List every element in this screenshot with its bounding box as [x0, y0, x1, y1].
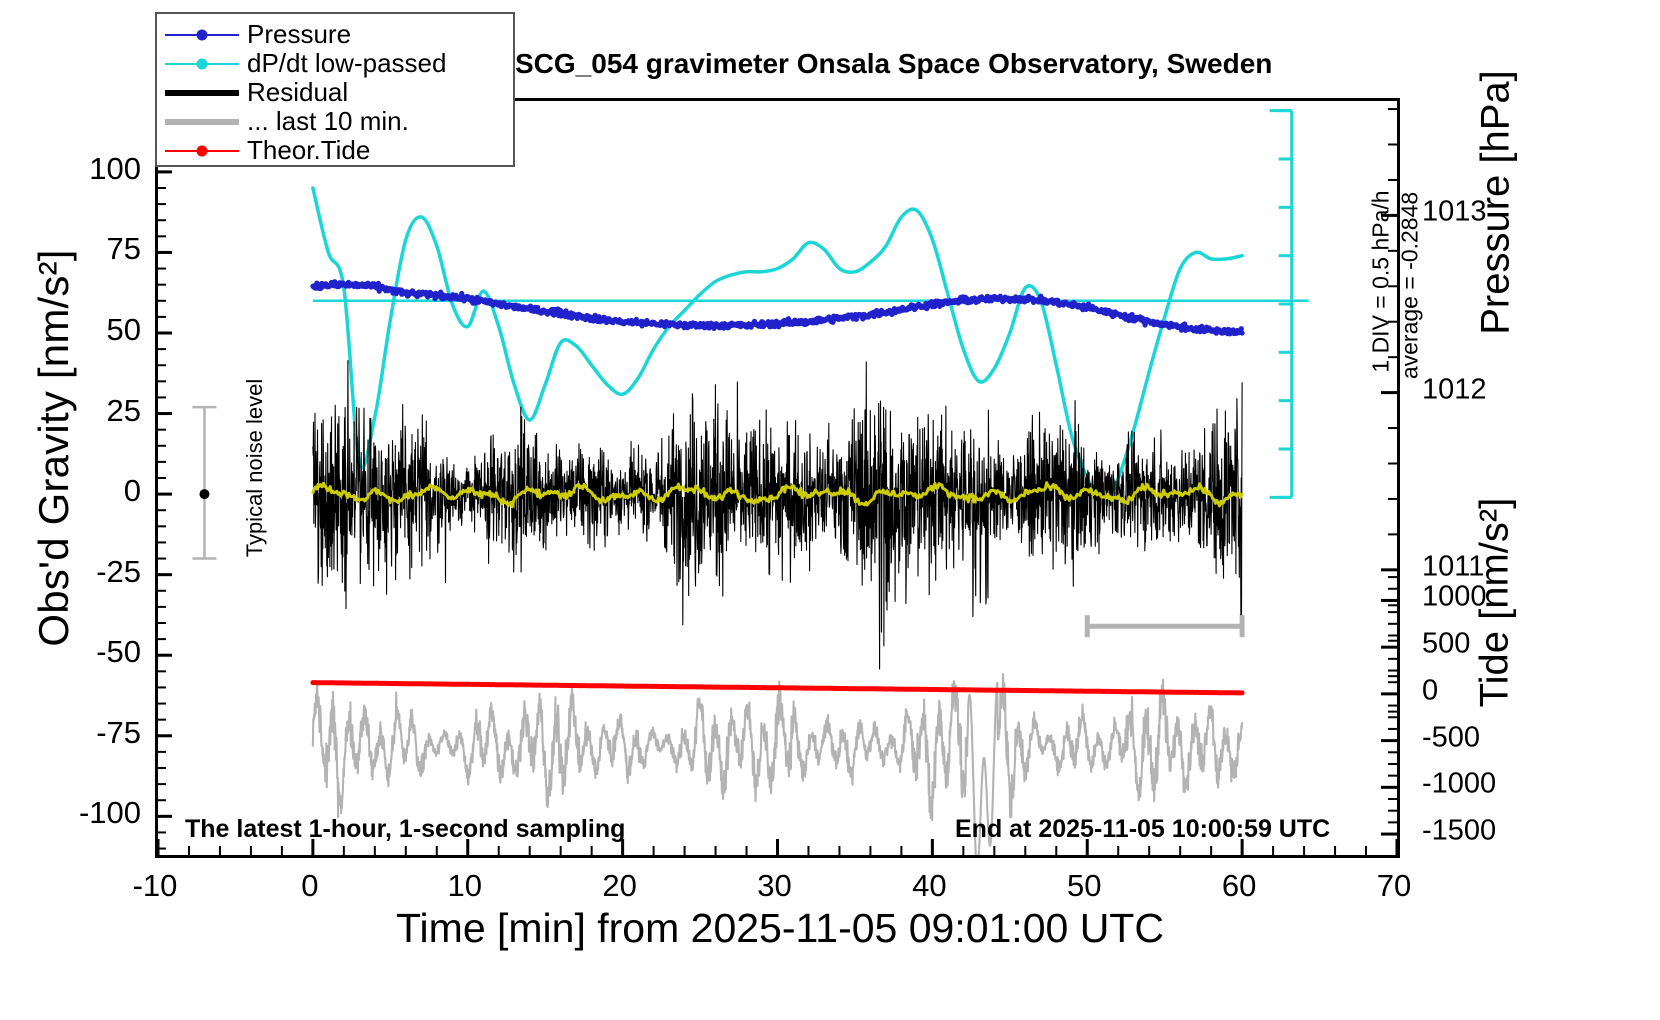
x-tick-label: 60 [1222, 868, 1256, 904]
x-tick-label: 40 [912, 868, 946, 904]
legend-swatch-pressure [157, 20, 247, 49]
dpdt-scale-annotation: 1 DIV = 0.5 hPa/h [1368, 177, 1395, 387]
x-tick-label: 20 [602, 868, 636, 904]
bottom-left-annotation: The latest 1-hour, 1-second sampling [185, 815, 625, 844]
y-tick-label: 25 [0, 393, 141, 429]
y-tick-label: -100 [0, 795, 141, 831]
x-tick-label: 0 [301, 868, 318, 904]
legend-label-dpdt: dP/dt low-passed [247, 48, 446, 79]
legend-swatch-residual [157, 78, 247, 107]
legend-swatch-dpdt [157, 49, 247, 78]
y-axis-label-left: Obs'd Gravity [nm/s²] [30, 98, 78, 798]
y-tick-label: -75 [0, 715, 141, 751]
x-tick-label: -10 [133, 868, 178, 904]
tide-tick-label: -1000 [1422, 768, 1496, 801]
y-tick-label: -25 [0, 554, 141, 590]
x-tick-label: 30 [757, 868, 791, 904]
y-tick-label: 100 [0, 151, 141, 187]
pressure-tick-label: 1013 [1422, 196, 1487, 229]
tide-tick-label: -500 [1422, 721, 1480, 754]
y-tick-label: 75 [0, 231, 141, 267]
y-tick-label: 50 [0, 312, 141, 348]
x-tick-label: 50 [1067, 868, 1101, 904]
legend-label-tide: Theor.Tide [247, 135, 370, 166]
chart-canvas [158, 101, 1397, 855]
chart-legend: Pressure dP/dt low-passed Residual ... l… [155, 12, 515, 167]
pressure-tick-label: 1011 [1422, 550, 1484, 583]
chart-title: SCG_054 gravimeter Onsala Space Observat… [515, 48, 1272, 80]
legend-item-last10: ... last 10 min. [157, 107, 513, 136]
legend-item-pressure: Pressure [157, 20, 513, 49]
plot-area [155, 98, 1400, 858]
tide-tick-label: 0 [1422, 674, 1438, 707]
tide-tick-label: 1000 [1422, 581, 1487, 614]
pressure-tick-label: 1012 [1422, 373, 1487, 406]
legend-label-pressure: Pressure [247, 19, 351, 50]
legend-item-tide: Theor.Tide [157, 136, 513, 165]
tide-tick-label: -1500 [1422, 815, 1496, 848]
x-tick-label: 10 [448, 868, 482, 904]
legend-label-residual: Residual [247, 77, 348, 108]
bottom-right-annotation: End at 2025-11-05 10:00:59 UTC [955, 815, 1330, 844]
legend-item-dpdt: dP/dt low-passed [157, 49, 513, 78]
x-tick-label: 70 [1377, 868, 1411, 904]
y-tick-label: -50 [0, 634, 141, 670]
legend-label-last10: ... last 10 min. [247, 106, 409, 137]
legend-item-residual: Residual [157, 78, 513, 107]
y-tick-label: 0 [0, 473, 141, 509]
noise-level-annotation: Typical noise level [242, 373, 268, 563]
legend-swatch-last10 [157, 107, 247, 136]
legend-swatch-tide [157, 136, 247, 165]
dpdt-average-annotation: average = -0.2848 [1397, 186, 1424, 386]
x-axis-label: Time [min] from 2025-11-05 09:01:00 UTC [180, 905, 1380, 952]
tide-tick-label: 500 [1422, 628, 1470, 661]
